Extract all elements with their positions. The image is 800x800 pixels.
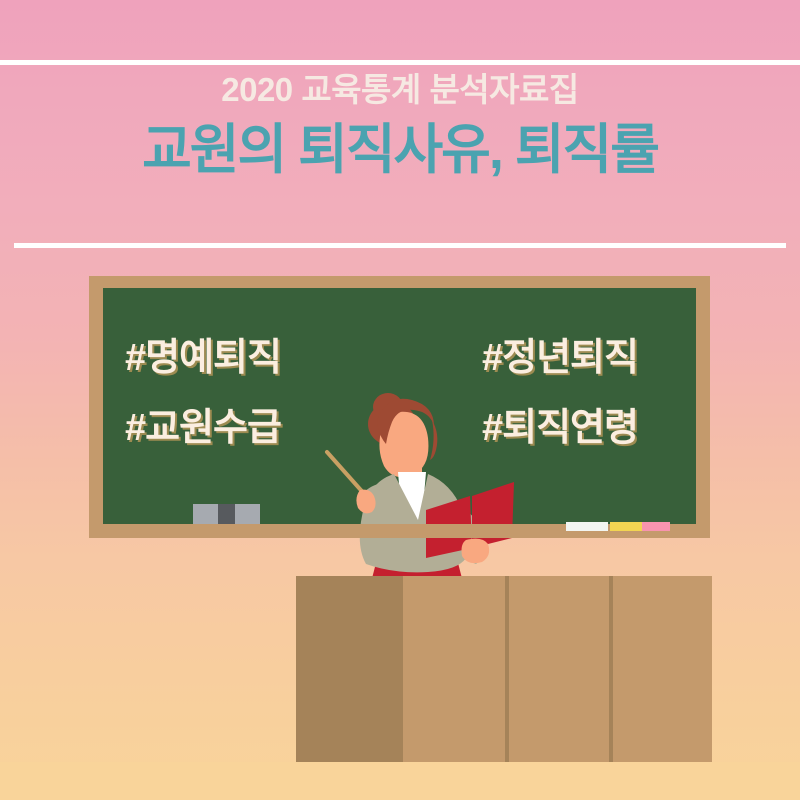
book-right-page <box>472 482 514 548</box>
eraser-left <box>193 504 218 524</box>
divider-bottom <box>14 243 786 248</box>
poster-canvas: 2020 교육통계 분석자료집 교원의 퇴직사유, 퇴직률 #명예퇴직 #정년퇴… <box>0 0 800 800</box>
hair-side <box>430 420 437 460</box>
header-block: 2020 교육통계 분석자료집 교원의 퇴직사유, 퇴직률 <box>0 72 800 181</box>
hashtag-myeongye-toejik: #명예퇴직 <box>125 326 281 381</box>
poster-eyebrow: 2020 교육통계 분석자료집 <box>0 72 800 108</box>
poster-headline: 교원의 퇴직사유, 퇴직률 <box>0 120 800 180</box>
right-hand <box>462 539 490 563</box>
hashtag-jeongnyeon-toejik: #정년퇴직 <box>482 326 638 381</box>
teacher-desk <box>296 576 712 762</box>
chalk-yellow <box>610 522 642 531</box>
eraser-right <box>235 504 260 524</box>
desk-panel-2 <box>403 576 505 762</box>
divider-top <box>0 60 800 65</box>
chalk-white <box>566 522 608 531</box>
desk-panel-3 <box>509 576 609 762</box>
desk-panel-1 <box>296 576 403 762</box>
desk-panel-4 <box>613 576 712 762</box>
hashtag-gyowon-sugeup: #교원수급 <box>125 396 281 451</box>
teacher-illustration <box>320 390 560 590</box>
eraser-middle <box>218 504 235 524</box>
floor-strip <box>0 762 800 800</box>
chalk-pink <box>642 522 670 531</box>
